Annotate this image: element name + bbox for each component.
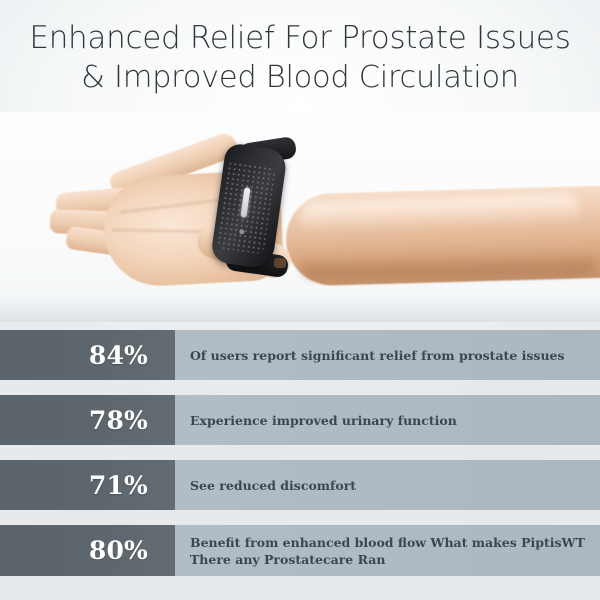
- stat-percent: 84%: [0, 330, 175, 380]
- stat-description-line: See reduced discomfort: [190, 477, 590, 494]
- headline-line-2: & Improved Blood Circulation: [14, 58, 586, 98]
- stat-row: 80% Benefit from enhanced blood flow Wha…: [0, 525, 600, 576]
- stat-row: 78% Experience improved urinary function: [0, 395, 600, 445]
- stat-description-line: Experience improved urinary function: [190, 412, 590, 429]
- forearm-shadow: [300, 249, 595, 278]
- promo-poster: Enhanced Relief For Prostate Issues & Im…: [0, 0, 600, 600]
- stat-description: Experience improved urinary function: [175, 395, 600, 445]
- stat-description: See reduced discomfort: [175, 460, 600, 510]
- stat-description-line: There any Prostatecare Ran: [190, 551, 590, 568]
- stat-description-line: Of users report significant relief from …: [190, 347, 590, 364]
- headline-line-1: Enhanced Relief For Prostate Issues: [14, 18, 586, 58]
- photo-ground-shadow: [0, 296, 600, 322]
- stat-row: 84% Of users report significant relief f…: [0, 330, 600, 380]
- stat-description-line: Benefit from enhanced blood flow What ma…: [190, 534, 590, 551]
- stat-description: Benefit from enhanced blood flow What ma…: [175, 525, 600, 576]
- stat-percent: 78%: [0, 395, 175, 445]
- stat-percent: 71%: [0, 460, 175, 510]
- wristband-clasp: [274, 258, 286, 268]
- statistics-list: 84% Of users report significant relief f…: [0, 322, 600, 600]
- page-title: Enhanced Relief For Prostate Issues & Im…: [0, 18, 600, 98]
- stat-percent: 80%: [0, 525, 175, 576]
- stat-description: Of users report significant relief from …: [175, 330, 600, 380]
- stat-row: 71% See reduced discomfort: [0, 460, 600, 510]
- hero-image: [0, 112, 600, 322]
